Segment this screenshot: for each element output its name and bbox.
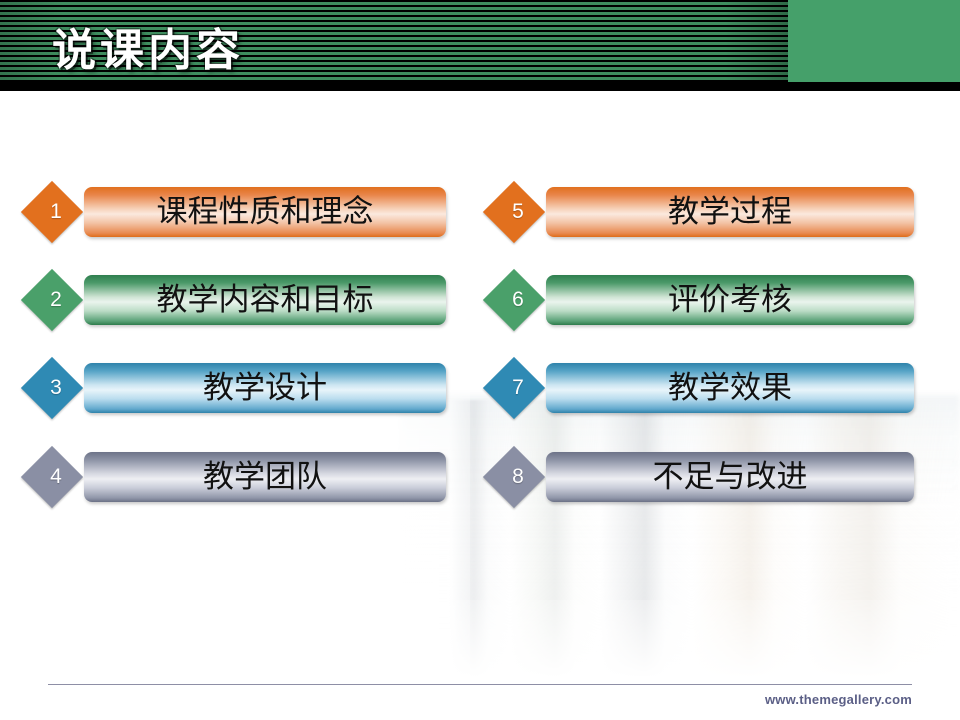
agenda-item-number: 5 xyxy=(490,181,546,243)
agenda-item-number: 3 xyxy=(28,357,84,419)
agenda-item-number: 2 xyxy=(28,269,84,331)
agenda-item-label: 教学内容和目标 xyxy=(84,275,446,325)
agenda-item-number: 7 xyxy=(490,357,546,419)
agenda-item-label: 评价考核 xyxy=(546,275,914,325)
agenda-item-4[interactable]: 4 教学团队 xyxy=(28,446,446,508)
footer-divider xyxy=(48,684,912,685)
agenda-item-label: 教学设计 xyxy=(84,363,446,413)
agenda-item-1[interactable]: 1 课程性质和理念 xyxy=(28,181,446,243)
agenda-item-3[interactable]: 3 教学设计 xyxy=(28,357,446,419)
agenda-item-number: 1 xyxy=(28,181,84,243)
agenda-item-7[interactable]: 7 教学效果 xyxy=(490,357,914,419)
agenda-item-6[interactable]: 6 评价考核 xyxy=(490,269,914,331)
slide: 说课内容 1 课程性质和理念 2 教学内容和目标 3 教学设计 4 教学团队 xyxy=(0,0,960,720)
agenda-item-2[interactable]: 2 教学内容和目标 xyxy=(28,269,446,331)
agenda-item-number: 8 xyxy=(490,446,546,508)
agenda-item-5[interactable]: 5 教学过程 xyxy=(490,181,914,243)
agenda-list: 1 课程性质和理念 2 教学内容和目标 3 教学设计 4 教学团队 5 教学过程 xyxy=(0,0,960,720)
agenda-item-number: 6 xyxy=(490,269,546,331)
agenda-item-label: 教学过程 xyxy=(546,187,914,237)
agenda-item-8[interactable]: 8 不足与改进 xyxy=(490,446,914,508)
agenda-item-label: 教学效果 xyxy=(546,363,914,413)
agenda-item-label: 教学团队 xyxy=(84,452,446,502)
footer-url[interactable]: www.themegallery.com xyxy=(765,692,912,707)
agenda-item-label: 不足与改进 xyxy=(546,452,914,502)
agenda-item-label: 课程性质和理念 xyxy=(84,187,446,237)
agenda-item-number: 4 xyxy=(28,446,84,508)
